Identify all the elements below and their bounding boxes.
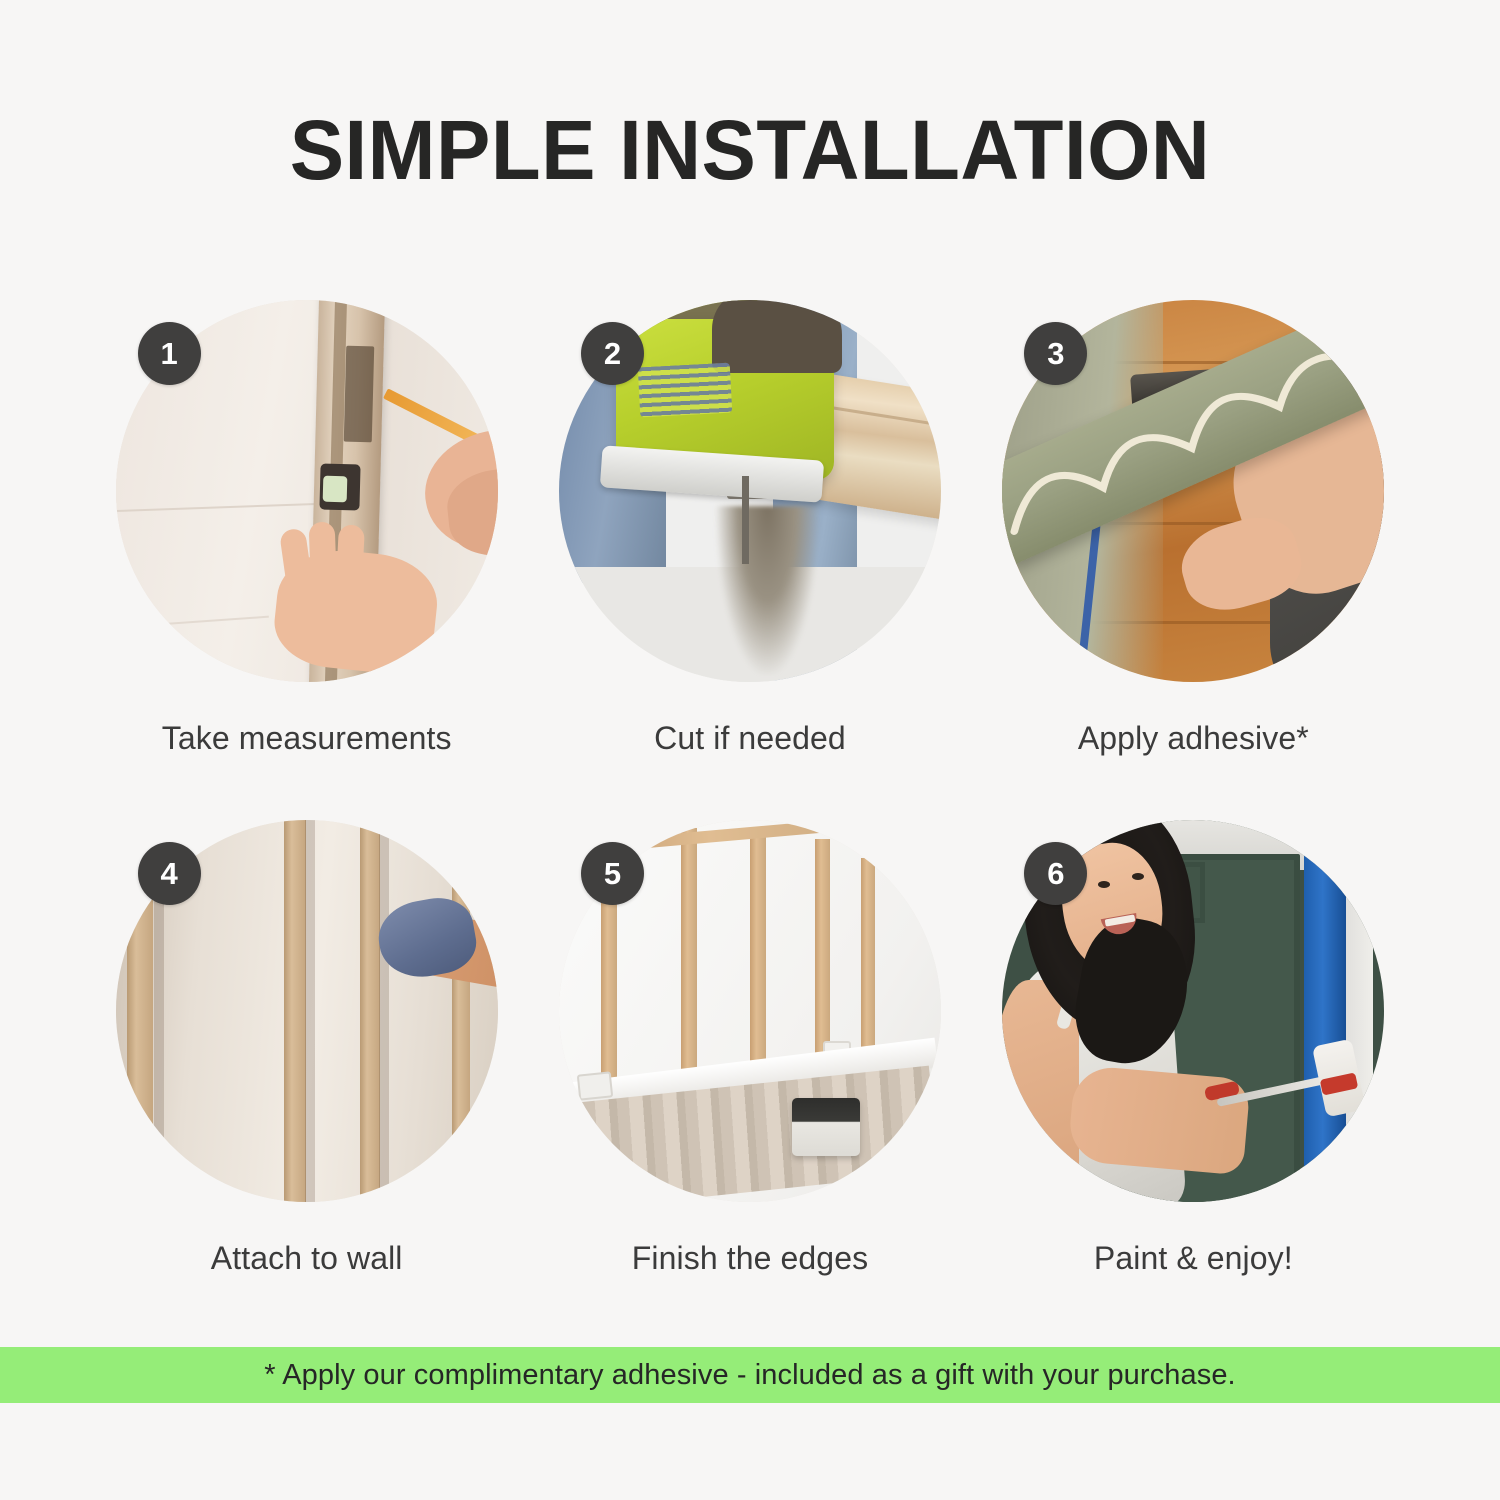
step-caption-2: Cut if needed — [654, 720, 846, 757]
step-figure-2: 2 — [559, 300, 941, 682]
step-card-6: 6 Paint & enjoy! — [972, 820, 1415, 1340]
step-number-badge-2: 2 — [581, 322, 644, 385]
step-card-5: 5 Finish the edges — [528, 820, 971, 1340]
step-caption-6: Paint & enjoy! — [1094, 1240, 1293, 1277]
step-number-badge-5: 5 — [581, 842, 644, 905]
step-number-badge-1: 1 — [138, 322, 201, 385]
step-card-4: 4 Attach to wall — [85, 820, 528, 1340]
installation-steps-grid: 1 Take measurements — [85, 300, 1415, 1340]
step-card-2: 2 Cut if needed — [528, 300, 971, 820]
step-figure-5: 5 — [559, 820, 941, 1202]
step-number-badge-3: 3 — [1024, 322, 1087, 385]
step-card-1: 1 Take measurements — [85, 300, 528, 820]
step-number-badge-4: 4 — [138, 842, 201, 905]
step-caption-3: Apply adhesive* — [1078, 720, 1309, 757]
step-card-3: 3 Apply adhesive* — [972, 300, 1415, 820]
step-number-badge-6: 6 — [1024, 842, 1087, 905]
step-figure-6: 6 — [1002, 820, 1384, 1202]
step-caption-4: Attach to wall — [211, 1240, 403, 1277]
step-figure-4: 4 — [116, 820, 498, 1202]
footnote-banner: * Apply our complimentary adhesive - inc… — [0, 1347, 1500, 1403]
step-caption-5: Finish the edges — [632, 1240, 868, 1277]
step-caption-1: Take measurements — [162, 720, 452, 757]
page-title: SIMPLE INSTALLATION — [23, 108, 1478, 192]
step-figure-1: 1 — [116, 300, 498, 682]
step-figure-3: 3 — [1002, 300, 1384, 682]
footnote-text: * Apply our complimentary adhesive - inc… — [264, 1359, 1235, 1392]
